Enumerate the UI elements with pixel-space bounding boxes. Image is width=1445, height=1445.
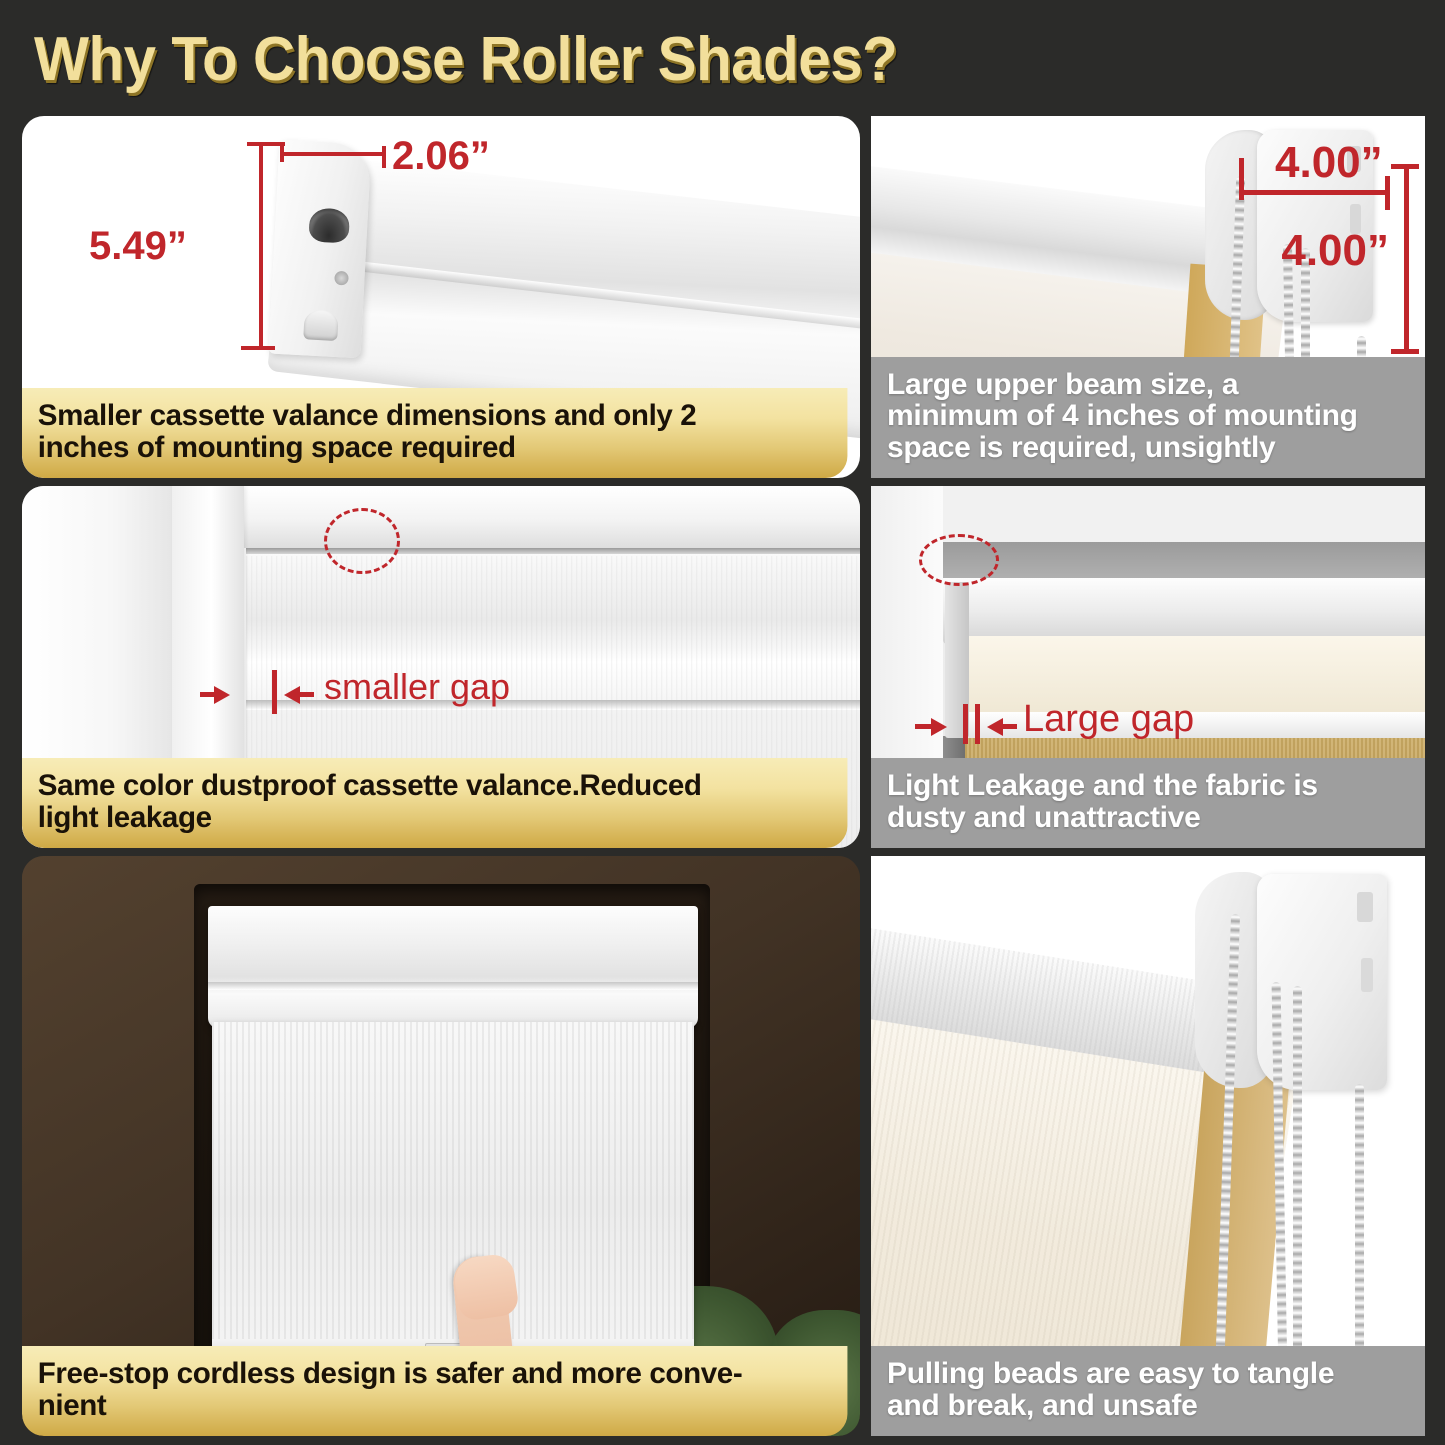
shade-tube-shape bbox=[943, 578, 1425, 644]
gap-arrow-stem bbox=[298, 692, 314, 697]
valance-screw-icon bbox=[334, 271, 349, 286]
height-dimension-tick-top bbox=[247, 142, 285, 146]
comparison-grid: 2.06” 5.49” Smaller cassette valance dim… bbox=[0, 108, 1445, 1445]
width-dimension-tick-left bbox=[280, 146, 284, 162]
highlight-circle-icon bbox=[919, 534, 999, 586]
hand-fingers-icon bbox=[452, 1252, 520, 1322]
caption-panel-cordless-design: Free-stop cordless design is safer and m… bbox=[22, 1346, 847, 1436]
caption-panel-large-gap: Light Leakage and the fabric is dusty an… bbox=[871, 758, 1425, 848]
height-dimension-line bbox=[259, 144, 263, 350]
beam-width-dimension-label: 4.00” bbox=[1275, 138, 1383, 188]
caption-panel-cassette-valance: Smaller cassette valance dimensions and … bbox=[22, 388, 847, 478]
gap-marker-line bbox=[272, 670, 277, 714]
gap-arrow-stem bbox=[200, 692, 218, 697]
caption-line: inches of mounting space required bbox=[38, 432, 832, 464]
page-title: Why To Choose Roller Shades? bbox=[34, 24, 897, 95]
highlight-circle-icon bbox=[324, 508, 400, 574]
caption-line: Pulling beads are easy to tangle bbox=[887, 1358, 1409, 1390]
caption-line: dusty and unattractive bbox=[887, 802, 1409, 834]
gap-callout-label: Large gap bbox=[1023, 698, 1194, 741]
gap-arrow-stem bbox=[1001, 724, 1017, 729]
gap-marker-line bbox=[963, 704, 968, 744]
panel-cassette-valance: 2.06” 5.49” Smaller cassette valance dim… bbox=[22, 116, 860, 478]
beam-height-tick-top bbox=[1391, 164, 1419, 169]
width-dimension-label: 2.06” bbox=[392, 134, 490, 179]
caption-panel-pulling-beads: Pulling beads are easy to tangle and bre… bbox=[871, 1346, 1425, 1436]
height-dimension-tick-bottom bbox=[241, 346, 275, 350]
caption-line: light leakage bbox=[38, 802, 832, 834]
beam-width-dimension-line bbox=[1239, 190, 1389, 195]
window-head-trim bbox=[172, 486, 860, 548]
caption-line: minimum of 4 inches of mounting bbox=[887, 400, 1409, 432]
caption-line: nient bbox=[38, 1390, 832, 1422]
panel-cordless-design: Free-stop cordless design is safer and m… bbox=[22, 856, 860, 1436]
caption-line: Large upper beam size, a bbox=[887, 369, 1409, 401]
height-dimension-label: 5.49” bbox=[89, 224, 187, 269]
caption-line: Smaller cassette valance dimensions and … bbox=[38, 400, 832, 432]
caption-panel-smaller-gap: Same color dustproof cassette valance.Re… bbox=[22, 758, 847, 848]
gap-callout-label: smaller gap bbox=[324, 666, 510, 708]
caption-line: space is required, unsightly bbox=[887, 432, 1409, 464]
gap-arrow-stem bbox=[915, 724, 935, 729]
valance-knob-icon bbox=[303, 309, 339, 341]
cassette-valance-shape bbox=[208, 906, 698, 1028]
beam-height-dimension-line bbox=[1404, 164, 1409, 354]
caption-line: Same color dustproof cassette valance.Re… bbox=[38, 770, 832, 802]
panel-large-upper-beam: 4.00” 4.00” Large upper beam size, a min… bbox=[871, 116, 1425, 478]
panel-large-gap: Large gap Light Leakage and the fabric i… bbox=[871, 486, 1425, 848]
beam-height-tick-bottom bbox=[1391, 349, 1419, 354]
valance-end-cap bbox=[268, 140, 371, 359]
valance-hole-icon bbox=[308, 207, 350, 243]
beam-width-tick-left bbox=[1239, 158, 1244, 200]
bead-chain-icon bbox=[1355, 1084, 1364, 1378]
panel-smaller-gap: smaller gap Same color dustproof cassett… bbox=[22, 486, 860, 848]
bead-chain-icon bbox=[1293, 986, 1302, 1378]
width-dimension-line bbox=[280, 152, 386, 156]
gap-marker-line bbox=[975, 704, 980, 744]
caption-line: Light Leakage and the fabric is bbox=[887, 770, 1409, 802]
title-bar: Why To Choose Roller Shades? bbox=[0, 0, 1445, 108]
panel-pulling-beads: Pulling beads are easy to tangle and bre… bbox=[871, 856, 1425, 1436]
beam-height-dimension-label: 4.00” bbox=[1281, 226, 1389, 276]
shade-fabric-shape bbox=[212, 1022, 694, 1356]
width-dimension-tick-right bbox=[382, 146, 386, 168]
caption-line: Free-stop cordless design is safer and m… bbox=[38, 1358, 832, 1390]
caption-line: and break, and unsafe bbox=[887, 1390, 1409, 1422]
caption-panel-large-upper-beam: Large upper beam size, a minimum of 4 in… bbox=[871, 357, 1425, 478]
beam-width-tick-right bbox=[1385, 176, 1390, 210]
